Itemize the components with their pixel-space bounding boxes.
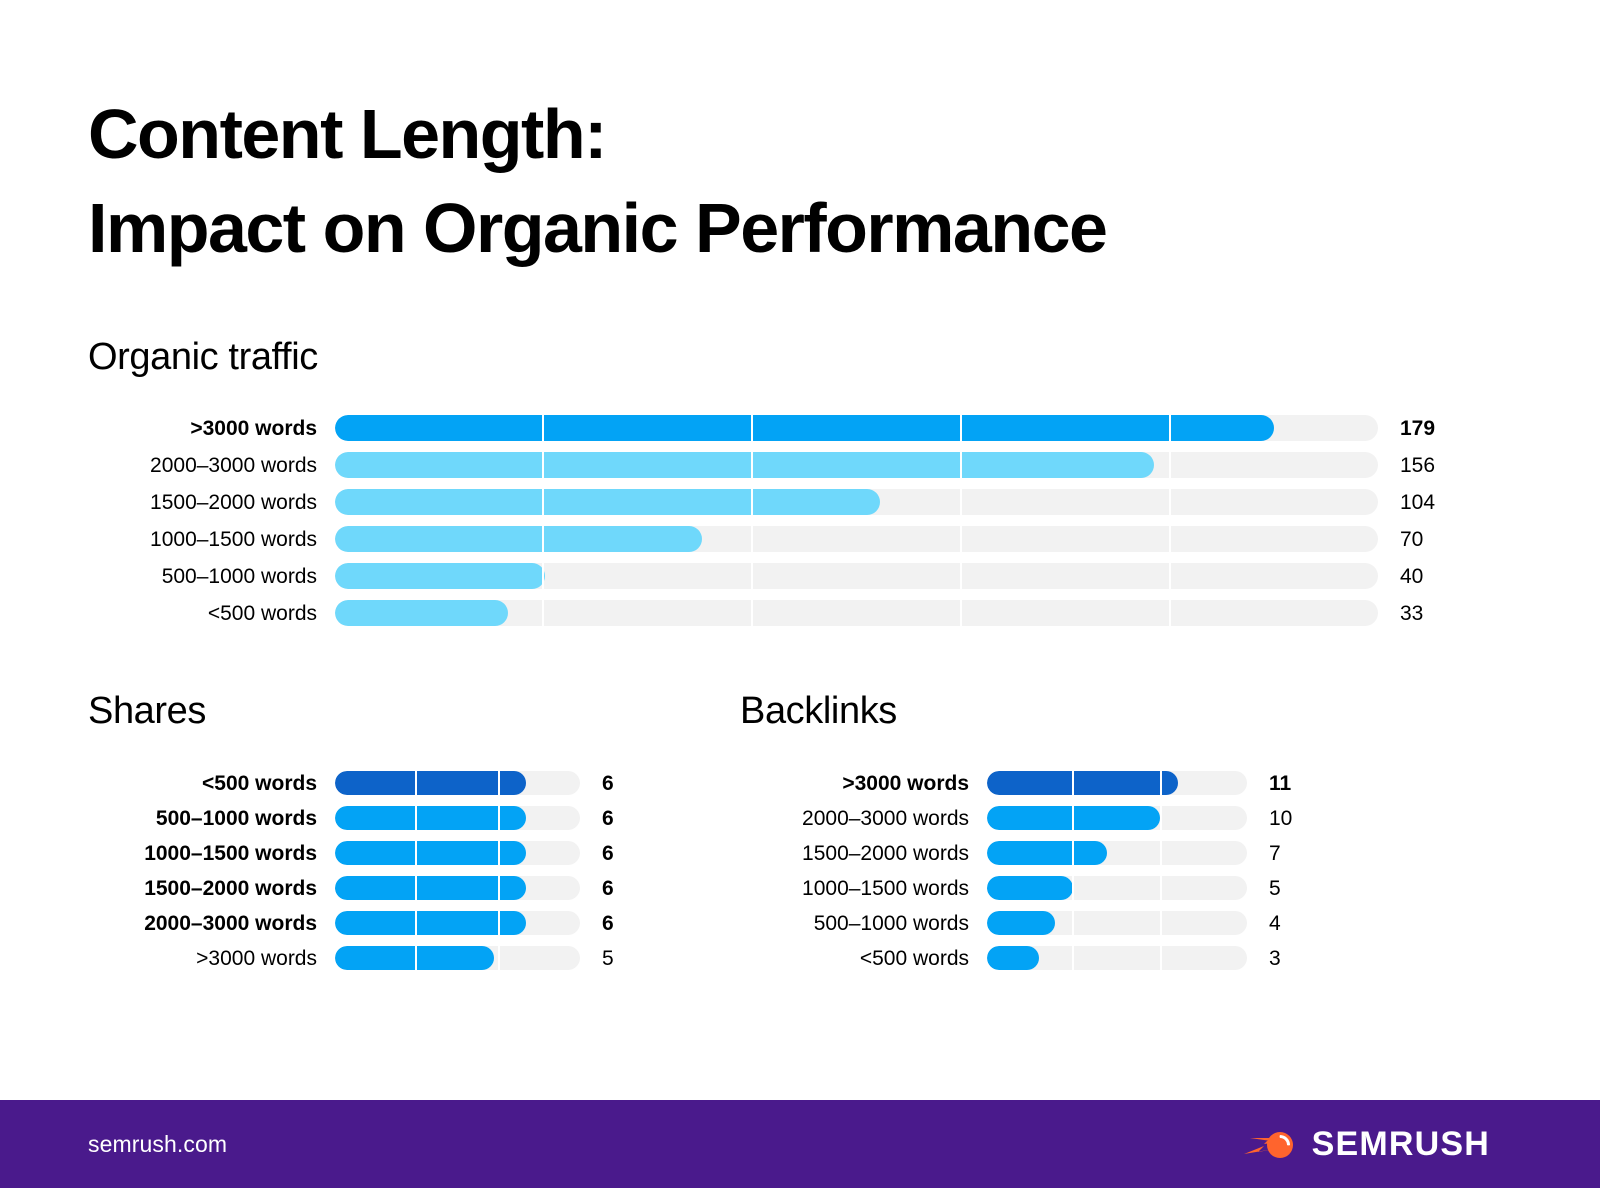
bar-row: 2000–3000 words10 bbox=[740, 804, 1360, 832]
bar-fill bbox=[335, 600, 508, 626]
chart-shares-rows: <500 words6500–1000 words61000–1500 word… bbox=[88, 769, 708, 972]
bar-track bbox=[335, 911, 580, 935]
chart-organic-traffic: Organic traffic >3000 words1792000–3000 … bbox=[88, 336, 1458, 635]
bar-row-value: 7 bbox=[1269, 843, 1281, 864]
infographic-canvas: Content Length: Impact on Organic Perfor… bbox=[0, 0, 1600, 1188]
bar-row-label: 1500–2000 words bbox=[88, 878, 317, 899]
bar-row-label: 2000–3000 words bbox=[88, 913, 317, 934]
bar-row-label: <500 words bbox=[740, 948, 969, 969]
bar-row: 500–1000 words40 bbox=[88, 561, 1458, 591]
bar-fill bbox=[335, 452, 1154, 478]
chart-organic-traffic-heading: Organic traffic bbox=[88, 336, 1458, 379]
bar-row-value: 6 bbox=[602, 808, 614, 829]
chart-shares: Shares <500 words6500–1000 words61000–15… bbox=[88, 690, 708, 979]
footer-bar: semrush.com SEMRUSH bbox=[0, 1100, 1600, 1188]
bar-fill bbox=[335, 841, 526, 865]
page-title-line-2: Impact on Organic Performance bbox=[88, 182, 1388, 276]
page-title-line-1: Content Length: bbox=[88, 88, 1388, 182]
bar-row: 2000–3000 words156 bbox=[88, 450, 1458, 480]
bar-row-label: 2000–3000 words bbox=[740, 808, 969, 829]
bar-row-value: 6 bbox=[602, 773, 614, 794]
bar-row-label: 500–1000 words bbox=[740, 913, 969, 934]
bar-track bbox=[987, 841, 1247, 865]
bar-track bbox=[335, 771, 580, 795]
bar-row: 2000–3000 words6 bbox=[88, 909, 708, 937]
bar-row-value: 6 bbox=[602, 913, 614, 934]
bar-row-value: 3 bbox=[1269, 948, 1281, 969]
bar-row-label: >3000 words bbox=[88, 418, 317, 439]
bar-row: 1500–2000 words104 bbox=[88, 487, 1458, 517]
semrush-wordmark: SEMRUSH bbox=[1312, 1125, 1490, 1164]
bar-fill bbox=[335, 526, 702, 552]
bar-fill bbox=[987, 841, 1107, 865]
bar-fill bbox=[987, 946, 1039, 970]
bar-track bbox=[987, 946, 1247, 970]
bar-row-label: 1500–2000 words bbox=[88, 492, 317, 513]
bar-row-value: 5 bbox=[602, 948, 614, 969]
bar-fill bbox=[987, 911, 1055, 935]
bar-fill bbox=[335, 563, 545, 589]
bar-row: 1000–1500 words70 bbox=[88, 524, 1458, 554]
bar-row: >3000 words179 bbox=[88, 413, 1458, 443]
bar-fill bbox=[335, 489, 880, 515]
semrush-logo[interactable]: SEMRUSH bbox=[1244, 1124, 1490, 1164]
bar-fill bbox=[335, 946, 494, 970]
chart-backlinks: Backlinks >3000 words112000–3000 words10… bbox=[740, 690, 1360, 979]
bar-row-label: 1000–1500 words bbox=[88, 843, 317, 864]
bar-row: 1500–2000 words6 bbox=[88, 874, 708, 902]
bar-row-value: 10 bbox=[1269, 808, 1292, 829]
bar-row-value: 179 bbox=[1400, 418, 1435, 439]
bar-row-label: >3000 words bbox=[740, 773, 969, 794]
bar-row: 500–1000 words4 bbox=[740, 909, 1360, 937]
bar-row-label: <500 words bbox=[88, 603, 317, 624]
bar-row-label: 1000–1500 words bbox=[88, 529, 317, 550]
chart-shares-heading: Shares bbox=[88, 690, 708, 733]
bar-row: >3000 words11 bbox=[740, 769, 1360, 797]
bar-fill bbox=[335, 806, 526, 830]
chart-organic-traffic-rows: >3000 words1792000–3000 words1561500–200… bbox=[88, 413, 1458, 628]
bar-row-value: 11 bbox=[1269, 773, 1291, 794]
bar-row: <500 words33 bbox=[88, 598, 1458, 628]
bar-track bbox=[987, 771, 1247, 795]
bar-track bbox=[987, 806, 1247, 830]
bar-row-label: 1500–2000 words bbox=[740, 843, 969, 864]
bar-row-label: 500–1000 words bbox=[88, 808, 317, 829]
bar-track bbox=[335, 526, 1378, 552]
bar-fill bbox=[987, 771, 1178, 795]
page-title: Content Length: Impact on Organic Perfor… bbox=[88, 88, 1388, 276]
bar-row-value: 40 bbox=[1400, 566, 1423, 587]
bar-track bbox=[335, 489, 1378, 515]
bar-fill bbox=[335, 911, 526, 935]
bar-row-label: 500–1000 words bbox=[88, 566, 317, 587]
bar-fill bbox=[335, 876, 526, 900]
bar-row-label: >3000 words bbox=[88, 948, 317, 969]
bar-track bbox=[335, 841, 580, 865]
bar-row: <500 words3 bbox=[740, 944, 1360, 972]
bar-row: <500 words6 bbox=[88, 769, 708, 797]
bar-row-value: 6 bbox=[602, 878, 614, 899]
bar-track bbox=[335, 876, 580, 900]
bar-fill bbox=[335, 771, 526, 795]
bar-track bbox=[335, 452, 1378, 478]
bar-track bbox=[987, 876, 1247, 900]
bar-row-value: 70 bbox=[1400, 529, 1423, 550]
bar-row-value: 6 bbox=[602, 843, 614, 864]
bar-row-label: 2000–3000 words bbox=[88, 455, 317, 476]
bar-fill bbox=[987, 806, 1160, 830]
bar-row-value: 5 bbox=[1269, 878, 1281, 899]
bar-row-value: 33 bbox=[1400, 603, 1423, 624]
bar-track bbox=[335, 946, 580, 970]
bar-row-value: 104 bbox=[1400, 492, 1435, 513]
bar-track bbox=[987, 911, 1247, 935]
bar-track bbox=[335, 415, 1378, 441]
bar-row-value: 156 bbox=[1400, 455, 1435, 476]
bar-track bbox=[335, 600, 1378, 626]
bar-row: 1000–1500 words6 bbox=[88, 839, 708, 867]
footer-url[interactable]: semrush.com bbox=[88, 1131, 227, 1158]
bar-track bbox=[335, 806, 580, 830]
bar-row-value: 4 bbox=[1269, 913, 1281, 934]
bar-row: 1000–1500 words5 bbox=[740, 874, 1360, 902]
bar-row: 1500–2000 words7 bbox=[740, 839, 1360, 867]
bar-fill bbox=[335, 415, 1274, 441]
semrush-comet-icon bbox=[1244, 1124, 1298, 1164]
bar-row: 500–1000 words6 bbox=[88, 804, 708, 832]
bar-track bbox=[335, 563, 1378, 589]
bar-fill bbox=[987, 876, 1073, 900]
chart-backlinks-heading: Backlinks bbox=[740, 690, 1360, 733]
bar-row: >3000 words5 bbox=[88, 944, 708, 972]
bar-row-label: <500 words bbox=[88, 773, 317, 794]
chart-backlinks-rows: >3000 words112000–3000 words101500–2000 … bbox=[740, 769, 1360, 972]
bar-row-label: 1000–1500 words bbox=[740, 878, 969, 899]
